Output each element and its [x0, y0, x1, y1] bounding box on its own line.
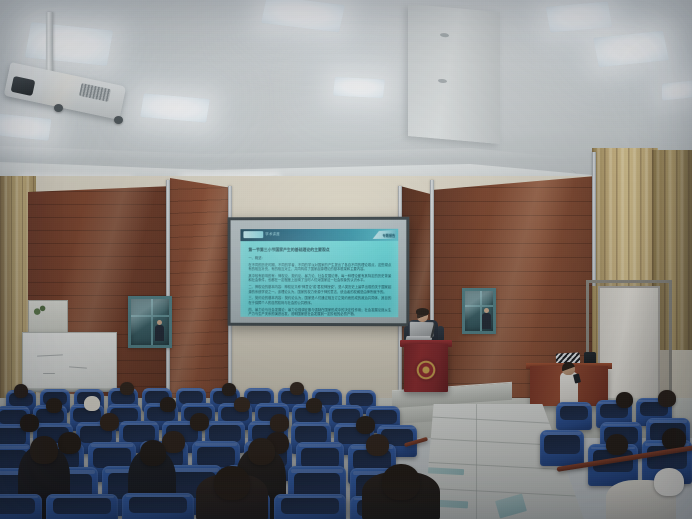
plant-decoration-icon — [30, 302, 48, 318]
audience-head — [222, 383, 236, 396]
audience-head — [14, 384, 28, 398]
slide-body: 一、概述： 在不同的历史时期，不同的学者、不同的学派对国家的产生提出了各自不同的… — [248, 256, 391, 317]
slide-paragraph: 在不同的历史时期，不同的学者、不同的学派对国家的产生提出了各自不同的理论观点，这… — [248, 263, 391, 272]
audience-head — [606, 434, 628, 455]
audience-head — [140, 440, 166, 466]
ceiling-light-panel — [662, 80, 692, 100]
wood-wall-panel-center-left — [170, 178, 232, 416]
person-beyond-window — [482, 313, 491, 329]
ceiling-light-panel — [546, 1, 613, 32]
ceiling-fixture-dot — [438, 79, 447, 84]
projector-foot — [114, 116, 123, 124]
audience-head — [306, 398, 322, 413]
slide-paragraph: 一、概述： — [248, 256, 391, 260]
person-beyond-window — [155, 325, 164, 341]
auditorium-seat[interactable] — [556, 402, 592, 430]
audience-head — [290, 382, 304, 395]
slide-logo-label: 学术讲座 — [265, 232, 280, 237]
slide-paragraph: 二、神权论的基本内容：神权论又称“神意论”或“君权神授说”，是人类历史上最早出现… — [248, 285, 391, 294]
window-left-wall — [128, 296, 172, 348]
auditorium-seat[interactable] — [0, 494, 42, 519]
auditorium-seat[interactable] — [540, 430, 584, 466]
slide-logo-icon — [243, 231, 263, 238]
standing-person-head — [562, 362, 575, 375]
presentation-slide: 学术讲座 专题报告 第一节第三小节国家产生的基础理论的主要观点 一、概述： 在不… — [240, 229, 398, 317]
projection-screen[interactable]: 学术讲座 专题报告 第一节第三小节国家产生的基础理论的主要观点 一、概述： 在不… — [228, 217, 410, 327]
slide-header-banner — [240, 229, 398, 241]
audience-head — [46, 398, 62, 413]
presenter-hair — [416, 308, 429, 315]
lecture-hall-photo: 学术讲座 专题报告 第一节第三小节国家产生的基础理论的主要观点 一、概述： 在不… — [0, 0, 692, 519]
ceiling-light-panel — [333, 77, 385, 99]
projector-foot — [54, 104, 63, 112]
screen-surface: 学术讲座 专题报告 第一节第三小节国家产生的基础理论的主要观点 一、概述： 在不… — [231, 220, 407, 324]
audience-head — [120, 382, 134, 395]
audience-head — [270, 414, 289, 432]
audience-head — [234, 397, 250, 412]
audience-head — [248, 438, 275, 465]
audience-head — [30, 436, 58, 464]
audience-head — [366, 434, 389, 456]
audience-head — [658, 390, 676, 407]
university-crest-icon — [416, 360, 436, 380]
ceiling-bulkhead — [408, 4, 500, 144]
auditorium-seat[interactable] — [274, 494, 346, 519]
slide-paragraph: 三、契约论的基本内容：契约论认为，国家是人们通过相互订立契约而形成的政治共同体，… — [248, 296, 391, 305]
slide-paragraph: 其中较有影响的有：神权论、契约论、暴力论、社会发展论等。每一种理论都有其特定的历… — [248, 274, 391, 283]
slide-paragraph: 四、暴力论与社会发展论：暴力论强调征服与强制在国家形成中的决定性作用；社会发展论… — [248, 307, 391, 316]
audience-seating — [0, 382, 692, 519]
audience-head — [100, 413, 119, 431]
window-right-wall — [462, 288, 496, 334]
audience-head — [356, 416, 375, 434]
audience-head — [190, 413, 209, 431]
audience-head — [214, 466, 250, 500]
slide-badge-label: 专题报告 — [382, 232, 395, 237]
audience-head — [20, 414, 39, 432]
audience-shoe-white — [654, 468, 684, 496]
audience-head — [160, 397, 176, 412]
auditorium-seat[interactable] — [46, 494, 118, 519]
audience-head-white-cap — [84, 396, 100, 411]
audience-head — [616, 392, 633, 408]
audience-head — [382, 464, 420, 500]
slide-title: 第一节第三小节国家产生的基础理论的主要观点 — [248, 247, 329, 252]
auditorium-seat[interactable] — [122, 493, 194, 519]
ceiling-fixture-dot — [440, 33, 449, 38]
